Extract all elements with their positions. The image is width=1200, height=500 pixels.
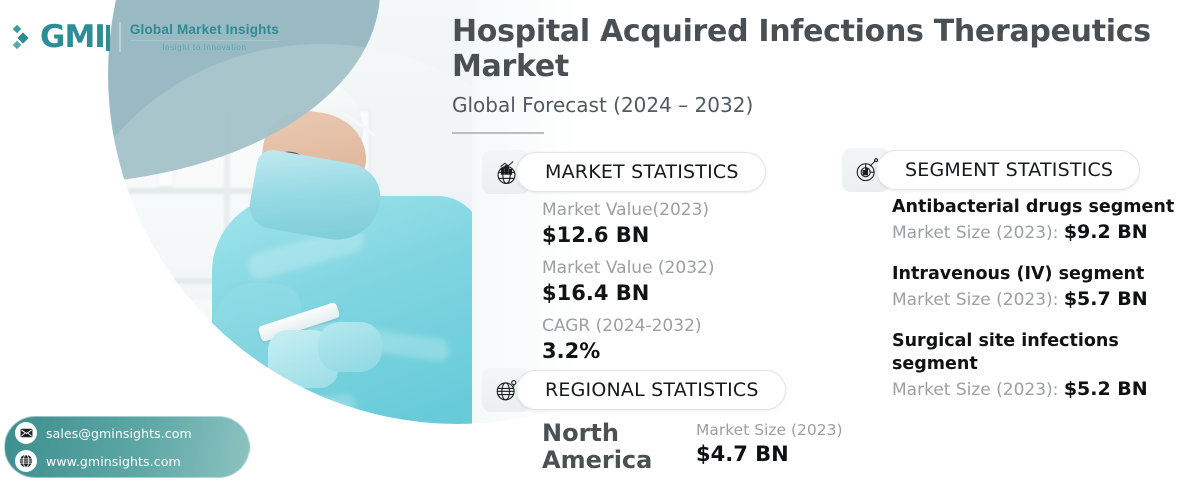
envelope-icon <box>15 422 37 444</box>
regional-statistics-label: REGIONAL STATISTICS <box>516 370 786 410</box>
market-statistics-label: MARKET STATISTICS <box>516 152 766 192</box>
segment-item: Intravenous (IV) segment Market Size (20… <box>892 263 1192 313</box>
logo-tagline: Insight to Innovation <box>130 43 279 52</box>
market-row-label: Market Value(2023) <box>542 198 714 222</box>
segment-item: Surgical site infections segment Market … <box>892 330 1192 403</box>
segment-name: Surgical site infections segment <box>892 330 1192 376</box>
market-row-value: $12.6 BN <box>542 222 714 249</box>
patient-eye <box>94 254 113 262</box>
page-subtitle: Global Forecast (2024 – 2032) <box>452 92 1152 118</box>
regional-statistics-header[interactable]: REGIONAL STATISTICS <box>482 368 786 412</box>
region-size-label: Market Size (2023) <box>696 420 843 441</box>
segment-statistics-body: Antibacterial drugs segment Market Size … <box>892 196 1192 420</box>
segment-name: Intravenous (IV) segment <box>892 263 1192 286</box>
diamond-cluster-icon <box>14 22 31 52</box>
market-row-value: 3.2% <box>542 338 714 365</box>
segment-size-label: Market Size (2023): <box>892 290 1058 310</box>
contact-website: www.gminsights.com <box>46 454 181 469</box>
logo-company-name: Global Market Insights <box>130 22 279 37</box>
segment-size-label: Market Size (2023): <box>892 223 1058 243</box>
market-row-label: Market Value (2032) <box>542 256 714 280</box>
contact-email: sales@gminsights.com <box>46 426 192 441</box>
contact-website-row[interactable]: www.gminsights.com <box>15 450 249 472</box>
segment-item: Antibacterial drugs segment Market Size … <box>892 196 1192 246</box>
segment-size-value: $5.7 BN <box>1064 288 1148 310</box>
logo-underline <box>130 40 279 41</box>
contact-bar: sales@gminsights.com www.gminsights.com <box>4 416 250 478</box>
header-block: Hospital Acquired Infections Therapeutic… <box>452 14 1152 134</box>
page-title: Hospital Acquired Infections Therapeutic… <box>452 14 1152 84</box>
segment-size-line: Market Size (2023): $5.7 BN <box>892 286 1192 313</box>
segment-name: Antibacterial drugs segment <box>892 196 1192 219</box>
logo-mark-text: GMI <box>40 19 105 55</box>
region-size-value: $4.7 BN <box>696 441 843 468</box>
market-row-value: $16.4 BN <box>542 280 714 307</box>
segment-statistics-header[interactable]: SEGMENT STATISTICS <box>842 148 1140 192</box>
regional-statistics-body: North America Market Size (2023) $4.7 BN <box>542 420 843 474</box>
region-name: North America <box>542 420 662 474</box>
globe-icon <box>15 450 37 472</box>
logo-divider <box>119 22 121 52</box>
clinician-gloved-hand-right <box>318 322 382 372</box>
gmi-logo[interactable]: GMI Global Market Insights Insight to In… <box>14 22 279 52</box>
contact-email-row[interactable]: sales@gminsights.com <box>15 422 249 444</box>
title-divider <box>452 132 544 134</box>
segment-size-line: Market Size (2023): $5.2 BN <box>892 376 1192 403</box>
segment-size-line: Market Size (2023): $9.2 BN <box>892 219 1192 246</box>
segment-size-value: $9.2 BN <box>1064 221 1148 243</box>
segment-statistics-label: SEGMENT STATISTICS <box>876 150 1140 190</box>
segment-size-label: Market Size (2023): <box>892 380 1058 400</box>
segment-size-value: $5.2 BN <box>1064 378 1148 400</box>
market-row-label: CAGR (2024-2032) <box>542 314 714 338</box>
logo-mark: GMI <box>40 22 110 52</box>
infographic-canvas: GMI Global Market Insights Insight to In… <box>0 0 1200 500</box>
market-statistics-body: Market Value(2023) $12.6 BN Market Value… <box>542 198 714 372</box>
market-statistics-header[interactable]: MARKET STATISTICS <box>482 150 766 194</box>
